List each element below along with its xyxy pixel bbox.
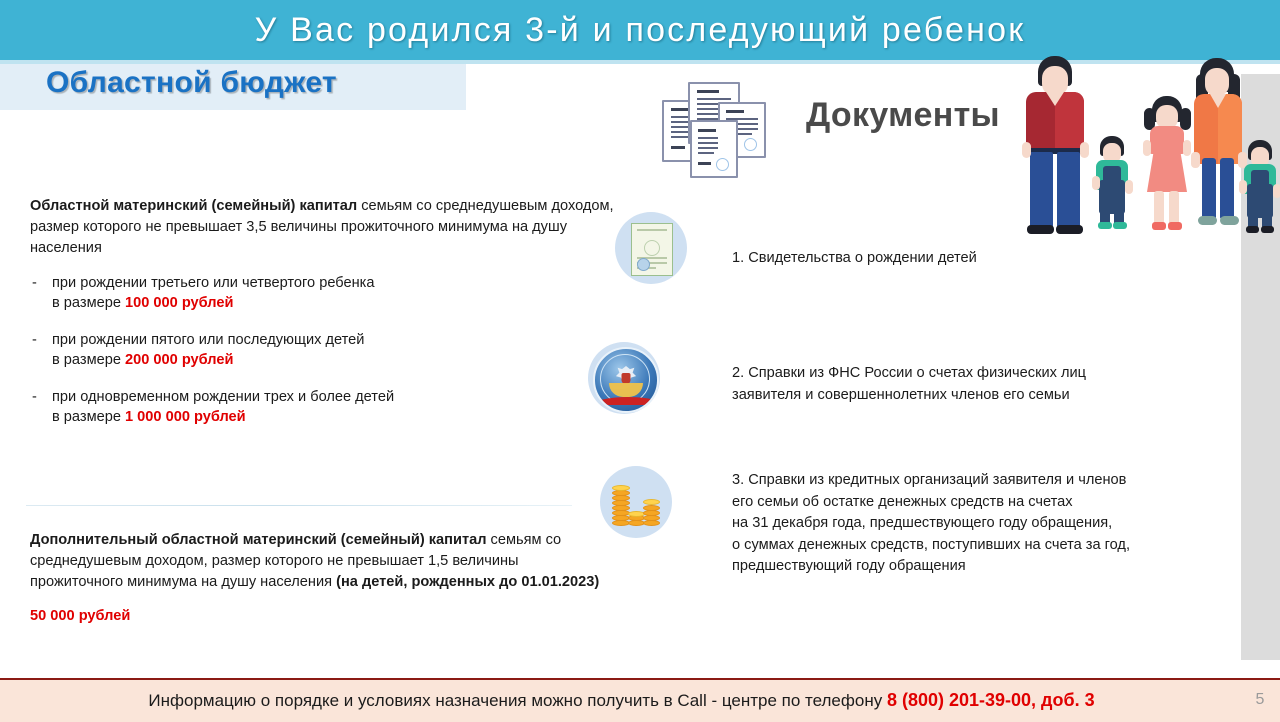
list-item: - при рождении пятого или последующих де… <box>30 330 630 370</box>
additional-capital-tail-bold: (на детей, рожденных до 01.01.2023) <box>336 574 599 590</box>
document-1-text: 1. Свидетельства о рождении детей <box>732 248 1162 270</box>
document-3-text: 3. Справки из кредитных организаций заяв… <box>732 470 1232 578</box>
coin-stacks <box>612 480 660 526</box>
additional-capital-amount: 50 000 рублей <box>30 608 610 624</box>
list-item: - при одновременном рождении трех и боле… <box>30 387 630 427</box>
birth-certificate-icon <box>615 212 687 284</box>
bullet-line2-prefix: в размере <box>52 295 125 311</box>
list-item: 3. Справки из кредитных организаций заяв… <box>600 466 1220 586</box>
footer-phone-number[interactable]: 8 (800) 201-39-00, доб. 3 <box>887 690 1095 710</box>
bullet-line2-prefix: в размере <box>52 352 125 368</box>
section-divider <box>26 505 572 506</box>
documents-heading: Документы <box>806 96 1000 135</box>
additional-capital-lead-bold: Дополнительный областной материнский (се… <box>30 532 486 548</box>
regional-capital-bullets: - при рождении третьего или четвертого р… <box>30 273 630 427</box>
bullet-amount: 200 000 рублей <box>125 352 233 368</box>
header-band: У Вас родился 3-й и последующий ребенок <box>0 0 1280 60</box>
additional-capital-block: Дополнительный областной материнский (се… <box>30 530 610 624</box>
list-item: - при рождении третьего или четвертого р… <box>30 273 630 313</box>
certificate-sheet <box>631 223 673 276</box>
slide-canvas: У Вас родился 3-й и последующий ребенок … <box>0 0 1280 720</box>
bullet-amount: 100 000 рублей <box>125 295 233 311</box>
additional-capital-lead: Дополнительный областной материнский (се… <box>30 530 610 593</box>
bullet-line1: при рождении пятого или последующих дете… <box>52 332 364 348</box>
documents-stack-icon <box>662 82 766 178</box>
footer-label: Информацию о порядке и условиях назначен… <box>148 691 887 710</box>
bullet-line1: при одновременном рождении трех и более … <box>52 389 394 405</box>
fns-seal <box>593 347 659 413</box>
bullet-line1: при рождении третьего или четвертого реб… <box>52 275 374 291</box>
page-number: 5 <box>1248 680 1272 720</box>
regional-capital-lead-bold: Областной материнский (семейный) капитал <box>30 198 357 214</box>
list-item: 2. Справки из ФНС России о счетах физиче… <box>588 342 1188 442</box>
document-2-text: 2. Справки из ФНС России о счетах физиче… <box>732 363 1182 406</box>
bullet-dash: - <box>32 273 37 293</box>
bullet-line2-prefix: в размере <box>52 409 125 425</box>
fns-emblem-icon <box>588 342 660 414</box>
page-title: У Вас родился 3-й и последующий ребенок <box>0 2 1280 58</box>
bullet-dash: - <box>32 387 37 407</box>
regional-capital-lead: Областной материнский (семейный) капитал… <box>30 196 630 259</box>
paper-sheet <box>690 120 738 178</box>
regional-capital-block: Областной материнский (семейный) капитал… <box>30 196 630 444</box>
list-item: 1. Свидетельства о рождении детей <box>615 212 1175 292</box>
bullet-dash: - <box>32 330 37 350</box>
budget-label: Областной бюджет <box>46 66 337 100</box>
coins-icon <box>600 466 672 538</box>
bullet-amount: 1 000 000 рублей <box>125 409 246 425</box>
footer-info-text: Информацию о порядке и условиях назначен… <box>0 680 1243 721</box>
coin-stack-mid <box>643 498 660 526</box>
